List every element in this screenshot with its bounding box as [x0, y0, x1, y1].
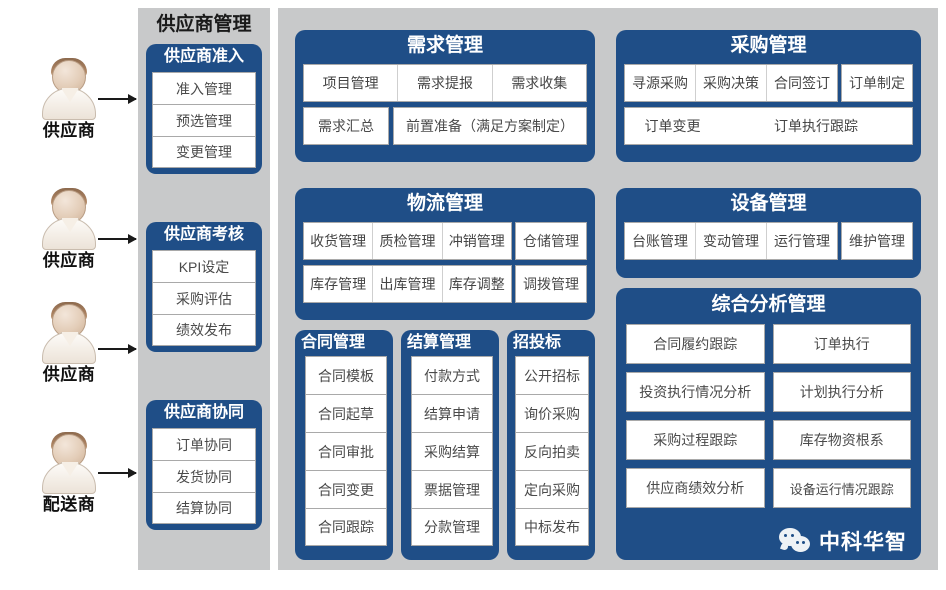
- group-supplier-access[interactable]: 供应商准入 准入管理 预选管理 变更管理: [146, 44, 262, 174]
- item-maintenance[interactable]: 维护管理: [841, 222, 913, 260]
- wechat-brand: 中科华智: [779, 526, 907, 556]
- item-inspection[interactable]: 质检管理: [372, 223, 441, 259]
- logistics-row-2: 库存管理 出库管理 库存调整 调拨管理: [303, 265, 587, 303]
- item-reverse-auction[interactable]: 反向拍卖: [515, 432, 589, 470]
- logistics-row-1-group[interactable]: 收货管理 质检管理 冲销管理: [303, 222, 512, 260]
- group-title: 物流管理: [295, 188, 595, 220]
- group-analysis-management[interactable]: 综合分析管理 合同履约跟踪 订单执行 投资执行情况分析 计划执行分析 采购过程跟…: [616, 288, 921, 560]
- item-pre-preparation[interactable]: 前置准备（满足方案制定）: [393, 107, 587, 145]
- item-inventory-adjust[interactable]: 库存调整: [442, 266, 511, 302]
- supplier-management-panel: 供应商管理 供应商准入 准入管理 预选管理 变更管理 供应商考核 KPI设定 采…: [138, 8, 270, 570]
- person-icon: [38, 58, 100, 120]
- logistics-row-2-group[interactable]: 库存管理 出库管理 库存调整: [303, 265, 512, 303]
- item-contract-template[interactable]: 合同模板: [305, 356, 387, 394]
- panel-title-supplier: 供应商管理: [138, 14, 270, 36]
- item-sourcing[interactable]: 寻源采购: [625, 65, 695, 101]
- item-operation[interactable]: 运行管理: [766, 223, 837, 259]
- item-contract-approve[interactable]: 合同审批: [305, 432, 387, 470]
- group-purchase-management[interactable]: 采购管理 寻源采购 采购决策 合同签订 订单制定 订单变更 订单执行跟踪: [616, 30, 921, 162]
- group-demand-management[interactable]: 需求管理 项目管理 需求提报 需求收集 需求汇总 前置准备（满足方案制定）: [295, 30, 595, 162]
- actor-label: 配送商: [43, 495, 96, 515]
- group-logistics-management[interactable]: 物流管理 收货管理 质检管理 冲销管理 仓储管理 库存管理 出库管理 库存调整 …: [295, 188, 595, 320]
- item-purchase-settle[interactable]: 采购结算: [411, 432, 493, 470]
- analysis-row-3: 采购过程跟踪 库存物资根系: [626, 420, 911, 460]
- actor-label: 供应商: [43, 121, 96, 141]
- item-receiving[interactable]: 收货管理: [304, 223, 372, 259]
- item-contract-draft[interactable]: 合同起草: [305, 394, 387, 432]
- item-contract-change[interactable]: 合同变更: [305, 470, 387, 508]
- item-inquiry-purchase[interactable]: 询价采购: [515, 394, 589, 432]
- item-purchase-decide[interactable]: 采购决策: [695, 65, 766, 101]
- item-demand-submit[interactable]: 需求提报: [397, 65, 491, 101]
- equipment-row-1-group[interactable]: 台账管理 变动管理 运行管理: [624, 222, 838, 260]
- demand-row-2: 需求汇总 前置准备（满足方案制定）: [303, 107, 587, 145]
- actor-supplier-2: 供应商: [0, 188, 138, 271]
- group-title: 综合分析管理: [616, 288, 921, 322]
- group-title: 供应商考核: [146, 222, 262, 248]
- item-equipment-operation-track[interactable]: 设备运行情况跟踪: [773, 468, 912, 508]
- item-demand-summary[interactable]: 需求汇总: [303, 107, 389, 145]
- arrow-supplier-1: [98, 98, 136, 100]
- group-contract-management[interactable]: 合同管理 合同模板 合同起草 合同审批 合同变更 合同跟踪: [295, 330, 393, 560]
- group-title: 设备管理: [616, 188, 921, 220]
- item-demand-collect[interactable]: 需求收集: [492, 65, 586, 101]
- actors-column: 供应商 供应商 供应商 配送商: [0, 0, 138, 590]
- group-supplier-assessment[interactable]: 供应商考核 KPI设定 采购评估 绩效发布: [146, 222, 262, 352]
- analysis-row-2: 投资执行情况分析 计划执行分析: [626, 372, 911, 412]
- item-contract-performance-track[interactable]: 合同履约跟踪: [626, 324, 765, 364]
- arrow-supplier-2: [98, 238, 136, 240]
- group-bidding[interactable]: 招投标 公开招标 询价采购 反向拍卖 定向采购 中标发布: [507, 330, 595, 560]
- item-inventory-material-rel[interactable]: 库存物资根系: [773, 420, 912, 460]
- person-icon: [38, 302, 100, 364]
- group-title: 招投标: [507, 330, 601, 356]
- item-transfer[interactable]: 调拨管理: [515, 265, 587, 303]
- item-outbound[interactable]: 出库管理: [372, 266, 441, 302]
- actor-label: 供应商: [43, 251, 96, 271]
- item-project-mgmt[interactable]: 项目管理: [304, 65, 397, 101]
- purchase-row-2[interactable]: 订单变更 订单执行跟踪: [624, 107, 913, 145]
- item-purchase-eval[interactable]: 采购评估: [152, 282, 256, 314]
- item-change-admin[interactable]: 变更管理: [152, 136, 256, 168]
- item-preselect-admin[interactable]: 预选管理: [152, 104, 256, 136]
- arrow-supplier-3: [98, 348, 136, 350]
- item-contract-sign[interactable]: 合同签订: [766, 65, 837, 101]
- item-writeoff[interactable]: 冲销管理: [442, 223, 511, 259]
- analysis-row-4: 供应商绩效分析 设备运行情况跟踪: [626, 468, 911, 508]
- item-settle-request[interactable]: 结算申请: [411, 394, 493, 432]
- item-order-create[interactable]: 订单制定: [841, 64, 913, 102]
- analysis-row-1: 合同履约跟踪 订单执行: [626, 324, 911, 364]
- item-contract-track[interactable]: 合同跟踪: [305, 508, 387, 546]
- actor-label: 供应商: [43, 365, 96, 385]
- group-title: 供应商协同: [146, 400, 262, 426]
- group-title: 结算管理: [401, 330, 505, 356]
- equipment-row-1: 台账管理 变动管理 运行管理 维护管理: [624, 222, 913, 260]
- purchase-row-1: 寻源采购 采购决策 合同签订 订单制定: [624, 64, 913, 102]
- item-open-bidding[interactable]: 公开招标: [515, 356, 589, 394]
- item-purchase-process-track[interactable]: 采购过程跟踪: [626, 420, 765, 460]
- item-order-tracking[interactable]: 订单执行跟踪: [720, 108, 912, 144]
- item-inventory[interactable]: 库存管理: [304, 266, 372, 302]
- group-equipment-management[interactable]: 设备管理 台账管理 变动管理 运行管理 维护管理: [616, 188, 921, 278]
- item-supplier-performance-analysis[interactable]: 供应商绩效分析: [626, 468, 765, 508]
- item-payment-method[interactable]: 付款方式: [411, 356, 493, 394]
- actor-supplier-3: 供应商: [0, 302, 138, 385]
- platform-modules-panel: 需求管理 项目管理 需求提报 需求收集 需求汇总 前置准备（满足方案制定） 采购…: [278, 8, 938, 570]
- person-icon: [38, 432, 100, 494]
- person-icon: [38, 188, 100, 250]
- logistics-row-1: 收货管理 质检管理 冲销管理 仓储管理: [303, 222, 587, 260]
- item-access-admin[interactable]: 准入管理: [152, 72, 256, 104]
- group-supplier-collaboration[interactable]: 供应商协同 订单协同 发货协同 结算协同: [146, 400, 262, 530]
- item-kpi-setting[interactable]: KPI设定: [152, 250, 256, 282]
- purchase-row-1-group[interactable]: 寻源采购 采购决策 合同签订: [624, 64, 838, 102]
- wechat-icon: [779, 528, 813, 554]
- item-performance-pub[interactable]: 绩效发布: [152, 314, 256, 346]
- item-plan-execution-analysis[interactable]: 计划执行分析: [773, 372, 912, 412]
- item-order-change[interactable]: 订单变更: [625, 108, 720, 144]
- group-title: 需求管理: [295, 30, 595, 62]
- item-change[interactable]: 变动管理: [695, 223, 766, 259]
- group-title: 供应商准入: [146, 44, 262, 70]
- arrow-distributor: [98, 472, 136, 474]
- item-warehousing[interactable]: 仓储管理: [515, 222, 587, 260]
- item-order-execution[interactable]: 订单执行: [773, 324, 912, 364]
- group-title: 采购管理: [616, 30, 921, 62]
- group-settlement-management[interactable]: 结算管理 付款方式 结算申请 采购结算 票据管理 分款管理: [401, 330, 499, 560]
- item-directed-buy[interactable]: 定向采购: [515, 470, 589, 508]
- item-settlement-collab[interactable]: 结算协同: [152, 492, 256, 524]
- item-shipment-collab[interactable]: 发货协同: [152, 460, 256, 492]
- wechat-label: 中科华智: [819, 526, 907, 556]
- demand-row-1[interactable]: 项目管理 需求提报 需求收集: [303, 64, 587, 102]
- group-title: 合同管理: [295, 330, 399, 356]
- item-ledger[interactable]: 台账管理: [625, 223, 695, 259]
- item-order-collab[interactable]: 订单协同: [152, 428, 256, 460]
- item-bill-management[interactable]: 票据管理: [411, 470, 493, 508]
- item-award-publish[interactable]: 中标发布: [515, 508, 589, 546]
- item-installment-mgmt[interactable]: 分款管理: [411, 508, 493, 546]
- item-investment-analysis[interactable]: 投资执行情况分析: [626, 372, 765, 412]
